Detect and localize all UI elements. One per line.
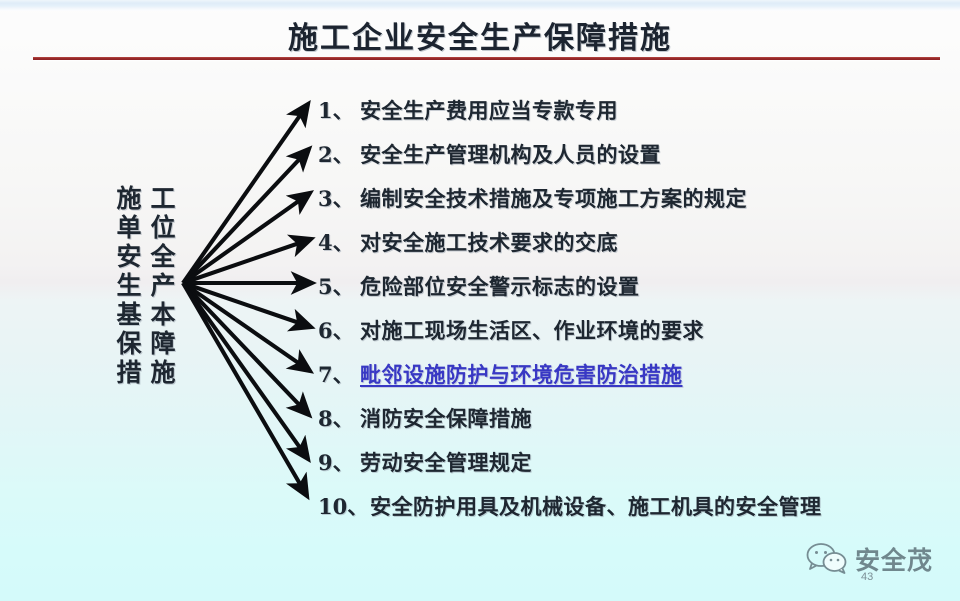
list-item[interactable]: 3、 编制安全技术措施及专项施工方案的规定	[318, 176, 938, 220]
heading-char: 本	[150, 300, 175, 329]
heading-char: 障	[150, 329, 175, 358]
title-divider-rule	[33, 57, 940, 60]
heading-char: 施	[116, 184, 141, 213]
list-item[interactable]: 5、 危险部位安全警示标志的设置	[318, 264, 938, 308]
page-number: 43	[861, 571, 873, 583]
list-item-label: 劳动安全管理规定	[360, 447, 532, 477]
arrow-to-item-6	[183, 283, 311, 327]
list-item-number: 4、	[318, 227, 360, 257]
list-item[interactable]: 2、 安全生产管理机构及人员的设置	[318, 132, 938, 176]
arrow-group	[183, 104, 312, 496]
list-item-highlighted[interactable]: 7、 毗邻设施防护与环境危害防治措施	[318, 352, 938, 396]
heading-char: 工	[150, 184, 175, 213]
list-item-label: 对安全施工技术要求的交底	[360, 227, 618, 257]
wechat-icon	[806, 542, 848, 576]
heading-char: 产	[150, 271, 175, 300]
left-vertical-heading: 施 单 安 生 基 保 措 工 位 全 产 本 障 施	[112, 184, 180, 387]
heading-char: 基	[116, 300, 141, 329]
list-item-number: 9、	[318, 447, 360, 477]
arrow-to-item-1	[183, 104, 308, 283]
list-item[interactable]: 6、 对施工现场生活区、作业环境的要求	[318, 308, 938, 352]
heading-char: 单	[116, 213, 141, 242]
list-item-label: 安全生产管理机构及人员的设置	[360, 139, 661, 169]
list-item-label: 编制安全技术措施及专项施工方案的规定	[360, 183, 747, 213]
list-item-number: 8、	[318, 403, 360, 433]
list-item-number: 7、	[318, 359, 360, 389]
arrow-to-item-2	[183, 149, 309, 283]
list-item-label: 安全生产费用应当专款专用	[360, 95, 618, 125]
list-item-label: 消防安全保障措施	[360, 403, 532, 433]
page-title: 施工企业安全生产保障措施	[0, 13, 960, 57]
heading-column-1: 施 单 安 生 基 保 措	[112, 184, 146, 387]
heading-char: 措	[116, 358, 141, 387]
heading-char: 全	[150, 242, 175, 271]
list-item-number: 5、	[318, 271, 360, 301]
heading-column-2: 工 位 全 产 本 障 施	[146, 184, 180, 387]
top-accent-band	[0, 0, 960, 11]
list-item-number: 6、	[318, 315, 360, 345]
arrow-to-item-10	[183, 283, 307, 496]
list-item[interactable]: 1、 安全生产费用应当专款专用	[318, 88, 938, 132]
list-item[interactable]: 9、 劳动安全管理规定	[318, 440, 938, 484]
list-item-number: 1、	[318, 95, 360, 125]
list-item[interactable]: 4、 对安全施工技术要求的交底	[318, 220, 938, 264]
list-item[interactable]: 8、 消防安全保障措施	[318, 396, 938, 440]
slide-canvas: 施工企业安全生产保障措施 施 单 安 生 基 保 措 工 位 全 产 本 障 施	[0, 0, 960, 601]
list-item-label: 毗邻设施防护与环境危害防治措施	[360, 359, 683, 389]
arrow-to-item-9	[183, 283, 308, 459]
list-item-number: 10、	[318, 491, 370, 521]
list-item[interactable]: 10、 安全防护用具及机械设备、施工机具的安全管理	[318, 484, 938, 528]
arrow-to-item-8	[183, 283, 309, 415]
heading-char: 施	[150, 358, 175, 387]
heading-char: 位	[150, 213, 175, 242]
list-item-label: 对施工现场生活区、作业环境的要求	[360, 315, 704, 345]
heading-char: 保	[116, 329, 141, 358]
list-item-number: 3、	[318, 183, 360, 213]
arrow-to-item-7	[183, 283, 310, 371]
list-item-number: 2、	[318, 139, 360, 169]
arrow-to-item-4	[183, 239, 311, 283]
list-item-label: 危险部位安全警示标志的设置	[360, 271, 640, 301]
heading-char: 生	[116, 271, 141, 300]
heading-char: 安	[116, 242, 141, 271]
list-item-label: 安全防护用具及机械设备、施工机具的安全管理	[370, 491, 822, 521]
arrow-to-item-3	[183, 193, 310, 283]
measures-list: 1、 安全生产费用应当专款专用 2、 安全生产管理机构及人员的设置 3、 编制安…	[318, 88, 938, 528]
